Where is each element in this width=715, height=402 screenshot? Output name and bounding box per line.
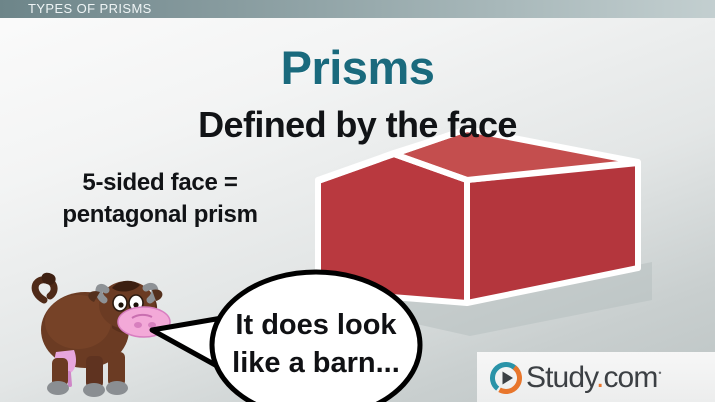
study-com-logo-panel[interactable]: Study.com• (477, 352, 715, 402)
topbar: TYPES OF PRISMS (0, 0, 715, 18)
left-caption: 5-sided face = pentagonal prism (20, 167, 300, 231)
page-subtitle: Defined by the face (0, 104, 715, 146)
logo-wordmark: Study.com• (526, 361, 661, 395)
logo-text-main: Study (526, 361, 596, 394)
topbar-title: TYPES OF PRISMS (28, 1, 152, 16)
slide-canvas: It does look like a barn... TYPES OF PRI… (0, 0, 715, 402)
speech-bubble: It does look like a barn... (152, 272, 420, 402)
caption-line-2: pentagonal prism (20, 199, 300, 231)
page-title: Prisms (0, 40, 715, 95)
bubble-line-2: like a barn... (232, 347, 400, 379)
logo-trademark: • (658, 368, 660, 378)
bubble-line-1: It does look (235, 309, 397, 341)
logo-text-tld: com (603, 361, 657, 394)
caption-line-1: 5-sided face = (20, 167, 300, 199)
play-circle-icon (488, 360, 524, 396)
logo-row: Study.com• (488, 360, 661, 396)
cartoon-cow (35, 273, 170, 397)
